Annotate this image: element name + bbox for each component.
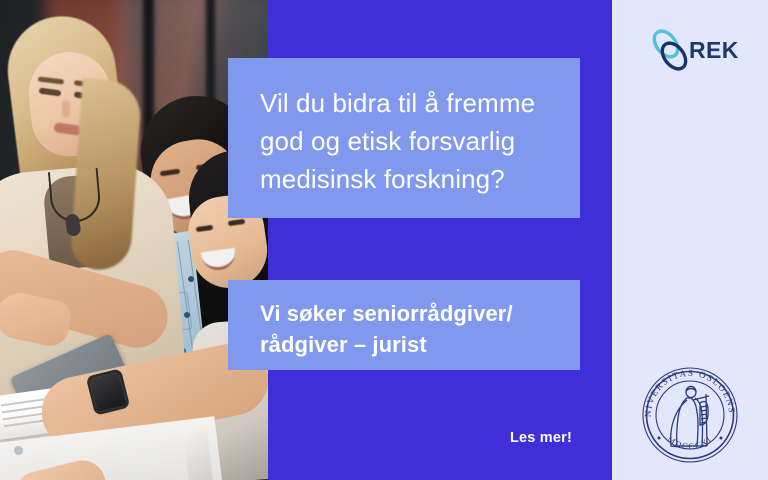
headline-textbox: Vil du bidra til å fremme god og etisk f… <box>228 58 580 218</box>
recruitment-banner: Vil du bidra til å fremme god og etisk f… <box>0 0 768 480</box>
uio-seal: UNIVERSITAS OSLOENSIS MDCCCXI <box>637 362 743 468</box>
role-line-2: rådgiver – jurist <box>260 329 560 360</box>
seal-figure-with-harp <box>671 386 709 447</box>
headline-line-3: medisinsk forskning? <box>260 160 552 198</box>
rek-wordmark: REK <box>689 37 739 64</box>
role-line-1: Vi søker seniorrådgiver/ <box>260 298 560 329</box>
rek-logo[interactable]: REK <box>648 26 752 74</box>
headline-line-2: god og etisk forsvarlig <box>260 122 552 160</box>
photo-shirt-button <box>184 312 190 318</box>
photo-woman1-nose <box>62 100 70 118</box>
job-title-textbox: Vi søker seniorrådgiver/ rådgiver – juri… <box>228 280 580 370</box>
interlocking-rings-icon <box>648 27 692 73</box>
photo-shirt-button <box>188 276 194 282</box>
headline-line-1: Vil du bidra til å fremme <box>260 84 552 122</box>
read-more-link[interactable]: Les mer! <box>380 430 572 446</box>
